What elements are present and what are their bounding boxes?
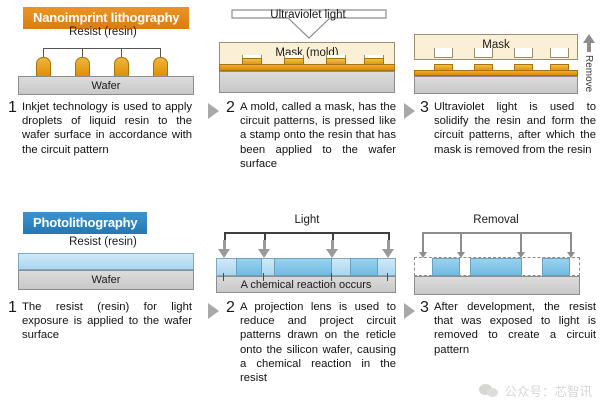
photo-step-3: 3 After development, the resist that was…	[408, 300, 598, 357]
resin-droplet	[75, 57, 90, 77]
step-number: 2	[226, 100, 240, 115]
wafer-substrate	[414, 276, 580, 295]
resist-layer	[18, 253, 194, 270]
wechat-bubble-small	[487, 388, 498, 397]
removal-bracket-horizontal	[422, 232, 572, 234]
resin-droplet	[36, 57, 51, 77]
up-arrow-icon	[583, 34, 595, 43]
step-text: The resist (resin) for light exposure is…	[22, 300, 192, 343]
exposed-resist-region	[274, 258, 332, 276]
step-number: 3	[420, 300, 434, 315]
photo-p3-art-label: Removal	[454, 214, 538, 226]
resin-droplet	[153, 57, 168, 77]
band-tick	[387, 273, 388, 281]
nano-p2-art-label: Ultraviolet light	[248, 9, 368, 21]
leader-line-horizontal	[43, 48, 161, 49]
section-banner-photolithography: Photolithography	[23, 212, 147, 234]
chemical-reaction-band: A chemical reaction occurs	[216, 276, 396, 293]
step-text: After development, the resist that was e…	[434, 300, 596, 357]
light-arrow-icon	[258, 249, 270, 258]
photo-step-2: 2 A projection lens is used to reduce an…	[212, 300, 402, 385]
step-number: 1	[8, 100, 22, 115]
remaining-resist-block	[470, 258, 522, 276]
removal-bracket-leg	[422, 232, 424, 254]
nano-step-1: 1 Inkjet technology is used to apply dro…	[8, 100, 204, 157]
up-arrow-stem	[587, 43, 591, 52]
light-arrow-icon	[326, 249, 338, 258]
band-tick	[331, 273, 332, 281]
nano-step-3: 3 Ultraviolet light is used to solidify …	[408, 100, 598, 157]
removal-bracket-leg	[570, 232, 572, 254]
photo-p1-art-label: Resist (resin)	[48, 236, 158, 248]
removal-bracket-leg	[460, 232, 462, 254]
watermark-text: 公众号：芯智讯	[504, 381, 592, 400]
remove-label: Remove	[583, 55, 594, 92]
light-bracket-horizontal	[224, 232, 390, 234]
wechat-icon	[479, 383, 499, 399]
chemical-reaction-label: A chemical reaction occurs	[217, 279, 395, 291]
nano-p1-art-label: Resist (resin)	[48, 26, 158, 38]
mask-cavity	[434, 48, 453, 58]
step-number: 2	[226, 300, 240, 315]
nano-step-2: 2 A mold, called a mask, has the circuit…	[212, 100, 402, 171]
remaining-resist-block	[432, 258, 460, 276]
light-arrow-icon	[218, 249, 230, 258]
watermark: 公众号：芯智讯	[479, 381, 592, 400]
light-arrow-icon	[382, 249, 394, 258]
figure-root: Nanoimprint lithography Resist (resin) W…	[0, 0, 600, 404]
wafer-substrate: Wafer	[18, 270, 194, 290]
photo-step-1: 1 The resist (resin) for light exposure …	[8, 300, 204, 343]
step-text: Inkjet technology is used to apply dropl…	[22, 100, 192, 157]
mask-cavity	[474, 48, 493, 58]
step-number: 3	[420, 100, 434, 115]
wafer-substrate	[414, 76, 578, 94]
step-text: A projection lens is used to reduce and …	[240, 300, 396, 385]
mask-cavity	[550, 48, 569, 58]
wafer-label: Wafer	[19, 274, 193, 286]
wafer-substrate: Wafer	[18, 76, 194, 95]
exposed-resist-region	[236, 258, 262, 276]
resin-layer	[219, 64, 395, 71]
band-tick	[263, 273, 264, 281]
band-tick	[223, 273, 224, 281]
photo-p2-art-label: Light	[272, 214, 342, 226]
exposed-resist-region	[350, 258, 378, 276]
mask-cavity	[514, 48, 533, 58]
wafer-substrate	[219, 71, 395, 93]
resin-droplet	[114, 57, 129, 77]
step-number: 1	[8, 300, 22, 315]
step-text: A mold, called a mask, has the circuit p…	[240, 100, 396, 171]
remaining-resist-block	[542, 258, 570, 276]
wafer-label: Wafer	[19, 80, 193, 92]
step-text: Ultraviolet light is used to solidify th…	[434, 100, 596, 157]
removal-bracket-leg	[520, 232, 522, 254]
